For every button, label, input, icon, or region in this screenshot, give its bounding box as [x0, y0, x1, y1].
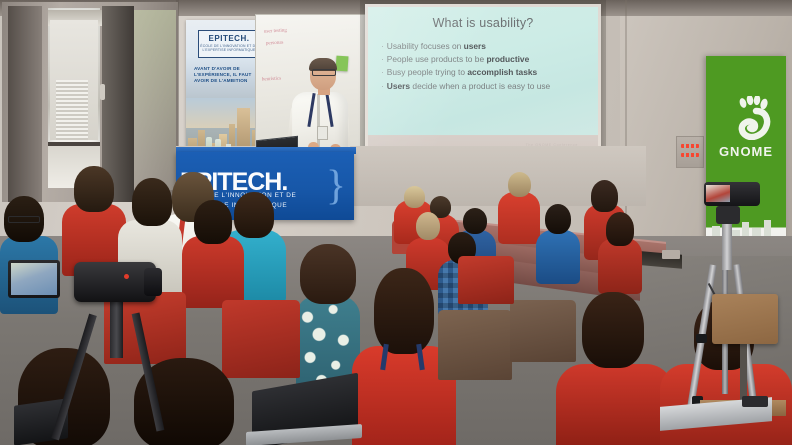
foreground-camcorder — [52, 252, 162, 332]
rear-camera-lcd — [706, 185, 730, 202]
speaker-badge — [317, 126, 328, 140]
window-jamb-left — [8, 6, 42, 202]
whiteboard-note-2: personas — [266, 41, 284, 48]
audience-member — [534, 204, 582, 286]
audience-member — [596, 212, 644, 296]
wall-led-display — [676, 136, 704, 168]
tripod-column — [722, 222, 732, 270]
tripod-head — [716, 206, 740, 224]
led-row-top — [681, 144, 699, 148]
camcorder-lcd-panel[interactable] — [8, 260, 60, 298]
chair-back-red[interactable] — [458, 256, 514, 304]
wall-socket-icon — [662, 250, 680, 259]
poster-logo-subtext: ÉCOLE DE L'INNOVATION ET DE L'EXPERTISE … — [199, 44, 259, 52]
speaker-glasses-icon — [312, 69, 336, 76]
poster-logo-frame: EPITECH. ÉCOLE DE L'INNOVATION ET DE L'E… — [198, 30, 260, 58]
wooden-chair-back[interactable] — [712, 294, 778, 344]
wooden-chair-leg — [740, 340, 747, 404]
gnome-wordmark: GNOME — [706, 144, 786, 159]
audience-member — [182, 200, 244, 308]
laptop-accessory — [742, 396, 768, 407]
outside-shutter — [56, 80, 88, 142]
poster-headline: AVANT D'AVOIR DE L'EXPÉRIENCE, IL FAUT A… — [194, 66, 260, 84]
window-mullion — [48, 142, 100, 146]
wall-panel-green-tint — [134, 10, 176, 190]
chair-back[interactable] — [438, 310, 512, 380]
eyeglasses-icon — [8, 216, 40, 223]
window-handle[interactable] — [100, 84, 105, 100]
tripod-column — [110, 300, 123, 358]
whiteboard-note-1: user testing — [264, 28, 287, 35]
camcorder-lcd-screen — [11, 263, 57, 295]
poster-logo-text: EPITECH. — [199, 34, 259, 43]
camcorder-lens — [144, 268, 162, 296]
gnome-foot-icon — [736, 96, 772, 140]
whiteboard-note-3: heuristics — [262, 77, 281, 84]
epitech-bracket-glyph: } — [326, 162, 346, 210]
record-indicator-icon — [124, 274, 129, 279]
led-row-bottom — [681, 153, 699, 157]
conference-photo: EPITECH. ÉCOLE DE L'INNOVATION ET DE L'E… — [0, 0, 792, 445]
chair-back[interactable] — [510, 300, 576, 362]
